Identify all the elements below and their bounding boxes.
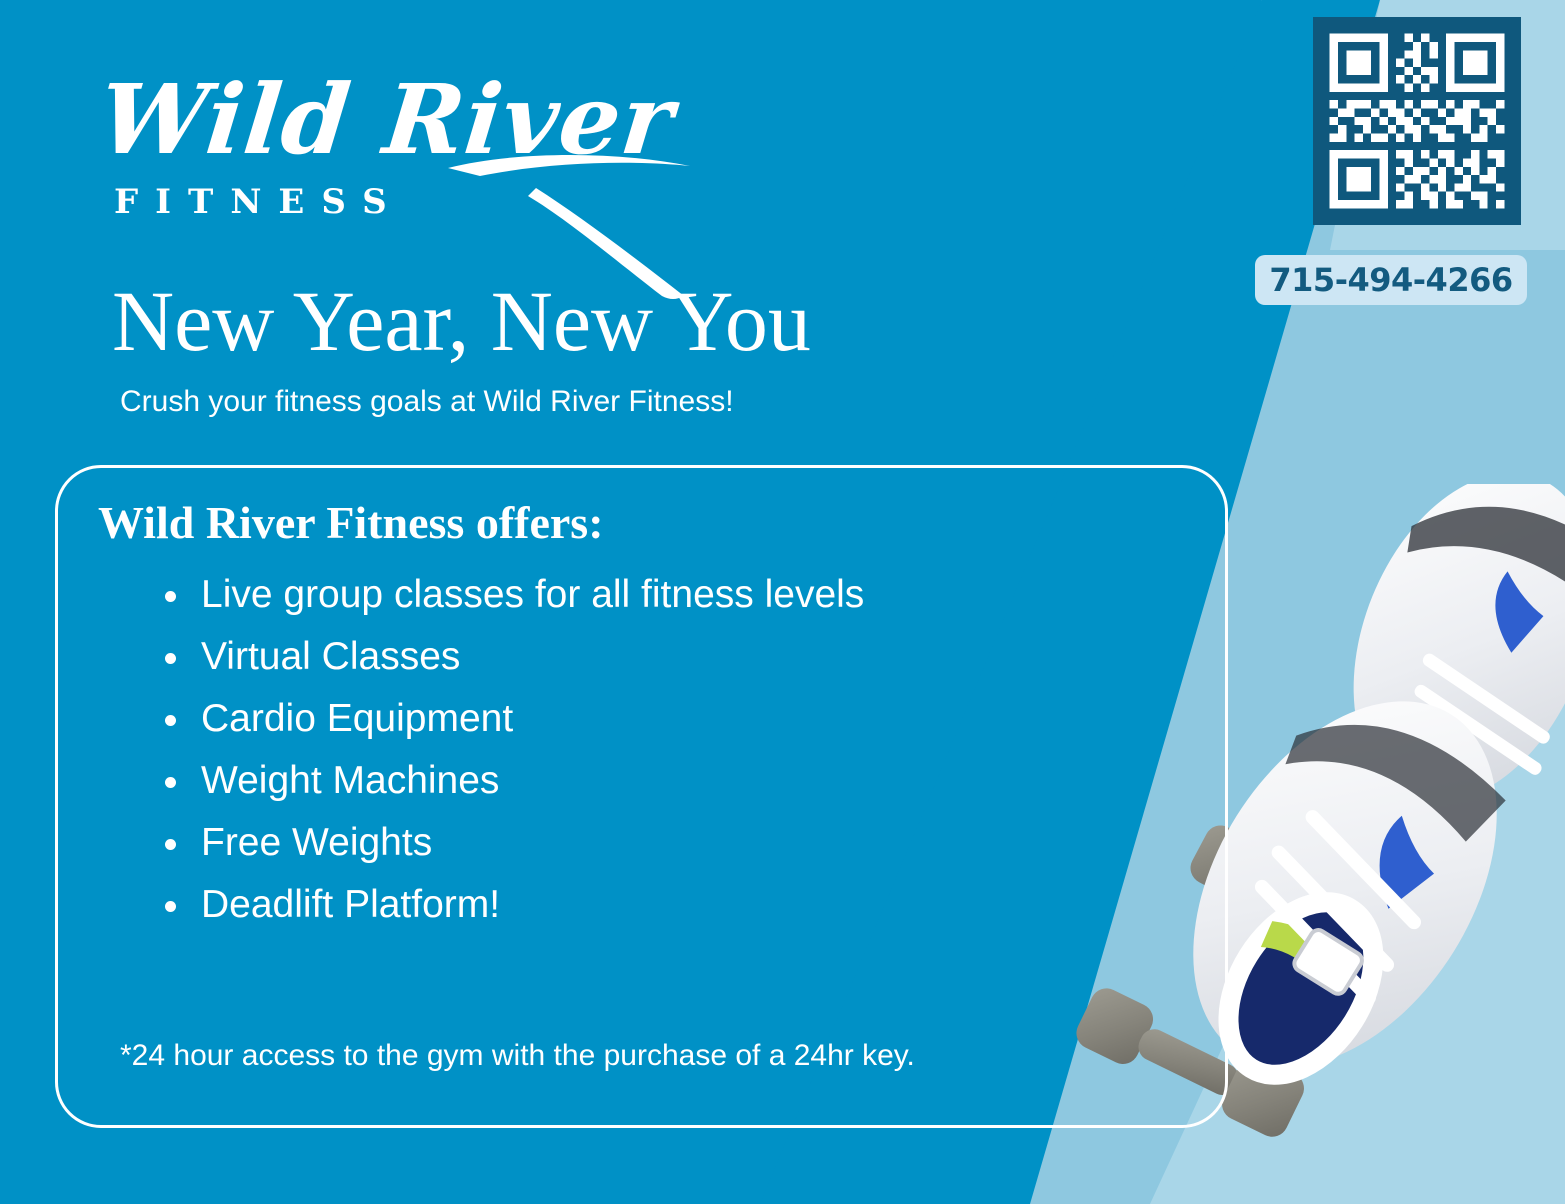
qr-code-icon[interactable] (1313, 17, 1521, 225)
brand-logo: Wild River FITNESS (100, 72, 660, 222)
bullet-icon (165, 591, 176, 602)
page-subtitle: Crush your fitness goals at Wild River F… (120, 385, 734, 419)
list-item-label: Weight Machines (201, 759, 499, 802)
bullet-icon (165, 839, 176, 850)
offers-footnote: *24 hour access to the gym with the purc… (120, 1039, 915, 1073)
offers-card: Wild River Fitness offers: Live group cl… (55, 465, 1228, 1128)
list-item-label: Live group classes for all fitness level… (201, 573, 864, 616)
flyer-poster: Wild River FITNESS New Year, New You Cru… (0, 0, 1565, 1204)
list-item: Virtual Classes (143, 626, 963, 688)
offers-heading: Wild River Fitness offers: (98, 496, 604, 549)
list-item: Free Weights (143, 812, 963, 874)
list-item: Weight Machines (143, 750, 963, 812)
list-item: Live group classes for all fitness level… (143, 564, 963, 626)
bullet-icon (165, 777, 176, 788)
list-item: Cardio Equipment (143, 688, 963, 750)
bullet-icon (165, 715, 176, 726)
list-item-label: Cardio Equipment (201, 697, 513, 740)
list-item: Deadlift Platform! (143, 874, 963, 936)
page-title: New Year, New You (112, 278, 811, 364)
logo-wordmark: Wild River (95, 72, 665, 168)
offers-list: Live group classes for all fitness level… (143, 564, 963, 936)
list-item-label: Deadlift Platform! (201, 883, 500, 926)
bullet-icon (165, 653, 176, 664)
list-item-label: Free Weights (201, 821, 432, 864)
list-item-label: Virtual Classes (201, 635, 460, 678)
phone-number: 715-494-4266 (1269, 261, 1512, 299)
bullet-icon (165, 901, 176, 912)
logo-subword: FITNESS (114, 182, 660, 222)
phone-badge[interactable]: 715-494-4266 (1255, 255, 1527, 305)
